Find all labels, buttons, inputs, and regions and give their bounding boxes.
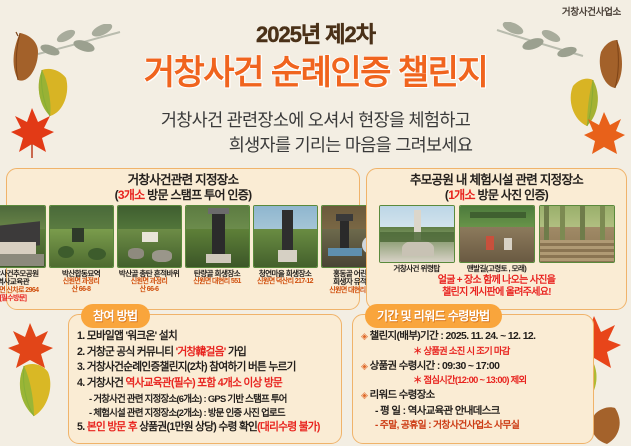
panel-memorial-facilities: 추모공원 내 체험시설 관련 지정장소 (1개소 방문 사진 인증) 거창사건 … xyxy=(366,168,627,310)
leaf-green-bottomleft-icon xyxy=(12,358,60,420)
howto-substep: - 체험시설 관련 지정장소(2개소) : 방문 인증 사진 업로드 xyxy=(77,406,341,420)
place-card[interactable]: 거창사건추모공원 역사교육관 신원면 신차로 2964 [필수방문] xyxy=(0,205,46,303)
place-name: 거창사건추모공원 역사교육관 xyxy=(0,270,46,287)
step-number: 2. xyxy=(77,346,85,358)
place-photo xyxy=(185,205,250,268)
facility-card[interactable] xyxy=(539,205,615,274)
step-accent: '거창韓걸음' xyxy=(176,346,226,358)
diamond-bullet-icon: ◈ xyxy=(361,361,367,371)
howto-step: 1. 모바일앱 '워크온' 설치 xyxy=(77,329,341,345)
howto-step: 3. 거창사건순례인증챌린지(2차) 참여하기 버튼 누르기 xyxy=(77,360,341,376)
facilities-count: 1개소 xyxy=(448,188,475,202)
panel-facilities-title: 추모공원 내 체험시설 관련 지정장소 (1개소 방문 사진 인증) xyxy=(367,173,626,202)
period-badge: 기간 및 리워드 수령방법 xyxy=(365,304,502,328)
page-title: 거창사건 순례인증 챌린지 xyxy=(0,45,631,94)
period-label: 리워드 수령장소 xyxy=(370,390,435,401)
period-note: ＊ 점심시간(12:00 ~ 13:00) 제외 xyxy=(361,374,593,388)
step-number: 3. xyxy=(77,361,85,373)
place-address: 신원면 과정리 산 66-6 xyxy=(117,278,182,294)
place-photo xyxy=(253,205,318,268)
step-text: 모바일앱 '워크온' 설치 xyxy=(87,330,177,342)
place-card[interactable]: 박산합동묘역 신원면 과정리 산 66-8 xyxy=(49,205,114,303)
panel-places-title: 거창사건관련 지정장소 (3개소 방문 스탬프 투어 인증) xyxy=(7,173,359,202)
period-label: 챌린지(배부)기간 : 2025. 11. 24. ~ 12. 12. xyxy=(370,331,536,342)
diamond-bullet-icon: ◈ xyxy=(361,390,367,400)
facility-name: 맨발길(고령토 , 모래) xyxy=(459,265,535,274)
diamond-bullet-icon: ◈ xyxy=(361,331,367,341)
step-tail: 가입 xyxy=(226,346,247,358)
facility-card[interactable]: 거창사건 위령탑 xyxy=(379,205,455,274)
howto-step: 5. 본인 방문 후 상품권(1만원 상당) 수령 확인(대리수령 불가) xyxy=(77,420,341,436)
place-card-list: 거창사건추모공원 역사교육관 신원면 신차로 2964 [필수방문] 박산합동묘… xyxy=(7,205,359,303)
reward-place-weekday: - 평 일 : 역사교육관 안내데스크 xyxy=(361,404,593,420)
howto-badge: 참여 방법 xyxy=(81,304,150,328)
step-accent: 본인 방문 후 xyxy=(87,421,137,433)
period-row: ◈ 상품권 수령시간 : 09:30 ~ 17:00 ＊ 점심시간(12:00 … xyxy=(361,359,593,389)
panel-places-title-main: 거창사건관련 지정장소 xyxy=(128,173,239,187)
facility-upload-notice: 얼굴 + 장소 함께 나오는 사진을 챌린지 게시판에 올려주세요! xyxy=(367,275,626,299)
page-subtitle: 거창사건 관련장소에 오셔서 현장을 체험하고 희생자를 기리는 마음을 그려보… xyxy=(0,108,631,158)
step-accent: 역사교육관(필수) 포함 4개소 이상 방문 xyxy=(126,377,283,389)
subtitle-line-2: 희생자를 기리는 마음을 그려보세요 xyxy=(0,133,631,158)
facility-name: 거창사건 위령탑 xyxy=(379,265,455,274)
place-address: 신원면 과정리 산 66-8 xyxy=(49,278,114,294)
period-row-list: ◈ 챌린지(배부)기간 : 2025. 11. 24. ~ 12. 12. ＊ … xyxy=(361,329,593,434)
period-row: ◈ 챌린지(배부)기간 : 2025. 11. 24. ~ 12. 12. ＊ … xyxy=(361,329,593,359)
step-number: 1. xyxy=(77,330,85,342)
org-tag: 거창사건사업소 xyxy=(562,4,621,18)
panel-designated-places: 거창사건관련 지정장소 (3개소 방문 스탬프 투어 인증) 거창사건추모공원 … xyxy=(6,168,360,310)
howto-step: 2. 거창군 공식 커뮤니티 '거창韓걸음' 가입 xyxy=(77,345,341,361)
place-card[interactable]: 탄량골 희생장소 신원면 대현리 551 xyxy=(185,205,250,303)
places-count: 3개소 xyxy=(118,188,145,202)
howto-substep: - 거창사건 관련 지정장소(6개소) : GPS 기반 스탬프 투어 xyxy=(77,392,341,406)
panel-how-to-participate: 참여 방법 1. 모바일앱 '워크온' 설치 2. 거창군 공식 커뮤니티 '거… xyxy=(68,314,342,444)
place-address: 신원면 신차로 2964 xyxy=(0,287,46,295)
place-required-badge: [필수방문] xyxy=(0,295,46,303)
step-text: 상품권(1만원 상당) 수령 확인 xyxy=(137,421,257,433)
panel-period-and-reward: 기간 및 리워드 수령방법 ◈ 챌린지(배부)기간 : 2025. 11. 24… xyxy=(352,314,594,444)
panel-facilities-subtitle: (1개소 방문 사진 인증) xyxy=(367,188,626,202)
period-note: ＊ 상품권 소진 시 조기 마감 xyxy=(361,345,593,359)
step-accent-2: (대리수령 불가) xyxy=(257,421,320,433)
step-number: 5. xyxy=(77,421,85,433)
period-label: 상품권 수령시간 : 09:30 ~ 17:00 xyxy=(370,361,500,372)
leaf-maple-bottomleft-icon xyxy=(4,318,56,378)
facilities-method: 방문 사진 인증) xyxy=(475,188,548,202)
place-address: 신원면 대현리 551 xyxy=(185,278,250,286)
notice-line-2: 챌린지 게시판에 올려주세요! xyxy=(367,287,626,299)
howto-step: 4. 거창사건 역사교육관(필수) 포함 4개소 이상 방문 xyxy=(77,376,341,392)
facility-photo xyxy=(459,205,535,263)
place-photo xyxy=(117,205,182,268)
place-photo xyxy=(49,205,114,268)
step-text: 거창사건 xyxy=(87,377,126,389)
step-text: 거창군 공식 커뮤니티 xyxy=(87,346,176,358)
facility-card-list: 거창사건 위령탑 맨발길(고령토 , 모래) xyxy=(367,205,626,274)
place-card[interactable]: 박산골 총탄 흔적바위 신원면 과정리 산 66-6 xyxy=(117,205,182,303)
facility-card[interactable]: 맨발길(고령토 , 모래) xyxy=(459,205,535,274)
subtitle-line-1: 거창사건 관련장소에 오셔서 현장을 체험하고 xyxy=(161,110,470,130)
reward-place-weekend: - 주말, 공휴일 : 거창사건사업소 사무실 xyxy=(361,419,593,434)
facility-photo xyxy=(539,205,615,263)
step-text: 거창사건순례인증챌린지(2차) 참여하기 버튼 누르기 xyxy=(87,361,296,373)
period-row: ◈ 리워드 수령장소 xyxy=(361,388,593,404)
notice-line-1: 얼굴 + 장소 함께 나오는 사진을 xyxy=(367,275,626,287)
place-address: 신원면 덕산리 217-12 xyxy=(253,278,318,286)
panel-facilities-title-main: 추모공원 내 체험시설 관련 지정장소 xyxy=(410,173,583,187)
panel-places-subtitle: (3개소 방문 스탬프 투어 인증) xyxy=(7,188,359,202)
place-card[interactable]: 청연마을 희생장소 신원면 덕산리 217-12 xyxy=(253,205,318,303)
facility-photo xyxy=(379,205,455,263)
poster-root: 거창사건사업소 2025년 제2차 거창사건 순례인증 챌린지 거창사건 관련장… xyxy=(0,0,631,446)
step-number: 4. xyxy=(77,377,85,389)
places-method: 방문 스탬프 투어 인증) xyxy=(145,188,252,202)
howto-step-list: 1. 모바일앱 '워크온' 설치 2. 거창군 공식 커뮤니티 '거창韓걸음' … xyxy=(77,329,341,435)
place-photo xyxy=(0,205,46,268)
